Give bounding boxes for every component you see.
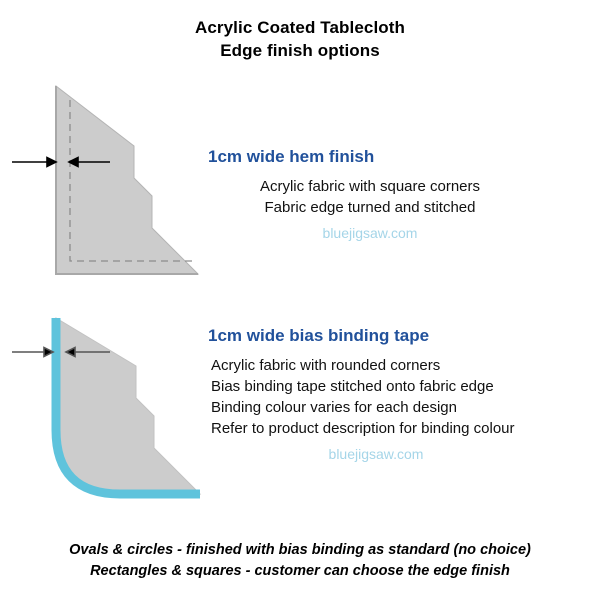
hem-detail-line: Acrylic fabric with square corners [205, 176, 535, 197]
bias-detail-line: Binding colour varies for each design [211, 397, 596, 418]
hem-heading: 1cm wide hem finish [208, 146, 595, 168]
section-bias-binding: 1cm wide bias binding tape Acrylic fabri… [0, 310, 600, 510]
hem-watermark: bluejigsaw.com [205, 223, 535, 243]
hem-text-column: 1cm wide hem finish Acrylic fabric with … [205, 146, 595, 243]
bias-text-column: 1cm wide bias binding tape Acrylic fabri… [205, 325, 595, 464]
bias-heading: 1cm wide bias binding tape [208, 325, 595, 347]
footer-note: Ovals & circles - finished with bias bin… [0, 540, 600, 582]
fabric-body-rounded [56, 318, 200, 494]
bias-detail-line: Acrylic fabric with rounded corners [211, 355, 596, 376]
bias-detail-line: Bias binding tape stitched onto fabric e… [211, 376, 596, 397]
bias-detail-list: Acrylic fabric with rounded corners Bias… [211, 355, 596, 439]
fabric-body-square [56, 86, 198, 274]
bias-detail-line: Refer to product description for binding… [211, 418, 596, 439]
bias-watermark: bluejigsaw.com [211, 444, 541, 464]
section-hem-finish: 1cm wide hem finish Acrylic fabric with … [0, 78, 600, 283]
hem-detail-list: Acrylic fabric with square corners Fabri… [205, 176, 535, 218]
title-line-1: Acrylic Coated Tablecloth [0, 16, 600, 39]
footer-line-2: Rectangles & squares - customer can choo… [0, 561, 600, 582]
page-title: Acrylic Coated Tablecloth Edge finish op… [0, 16, 600, 62]
square-corner-hem-diagram [12, 78, 212, 283]
binding-width-arrow-left [12, 348, 53, 357]
hem-detail-line: Fabric edge turned and stitched [205, 197, 535, 218]
rounded-corner-bias-binding-diagram [12, 310, 222, 510]
title-line-2: Edge finish options [0, 39, 600, 62]
hem-width-arrow-left [12, 158, 56, 167]
footer-line-1: Ovals & circles - finished with bias bin… [0, 540, 600, 561]
